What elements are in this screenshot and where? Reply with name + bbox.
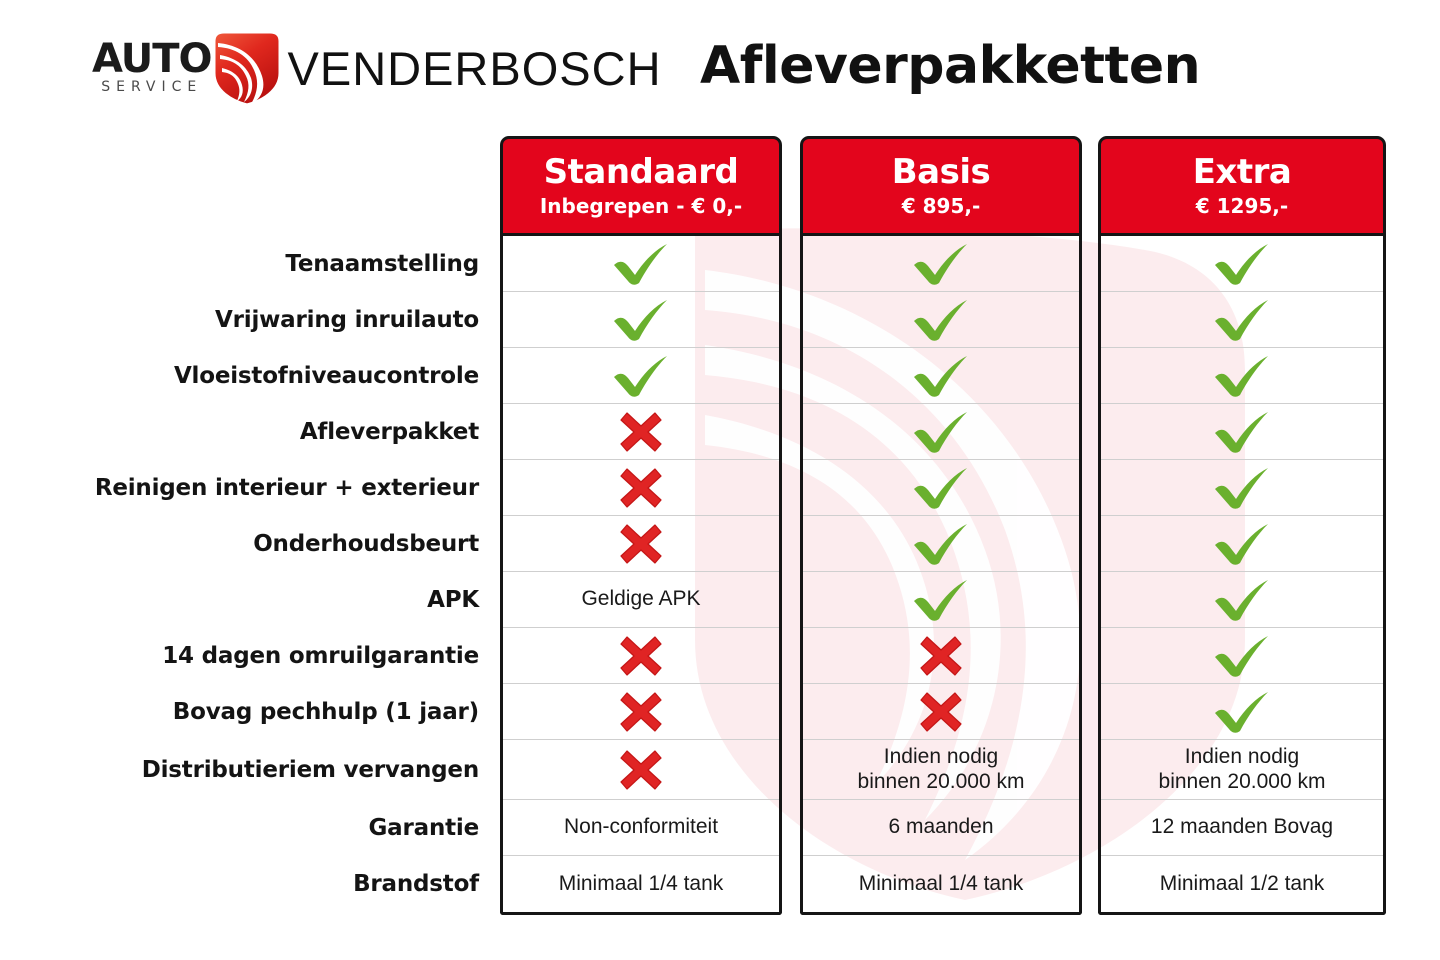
- cell-excluded: [503, 740, 779, 800]
- green-check-icon: [610, 354, 672, 398]
- feature-label: 14 dagen omruilgarantie: [60, 628, 485, 684]
- page-header: AUTO SERVICE VENDERBOSCH Afleverpakkette…: [0, 0, 1440, 130]
- cell-excluded: [503, 460, 779, 516]
- green-check-icon: [910, 298, 972, 342]
- package-column-basis[interactable]: Basis€ 895,-: [800, 136, 1082, 915]
- package-column-standaard[interactable]: StandaardInbegrepen - € 0,- Geldige APK: [500, 136, 782, 915]
- feature-label: Reinigen interieur + exterieur: [60, 460, 485, 516]
- cell-text: 12 maanden Bovag: [1101, 800, 1383, 856]
- logo-auto-service-text: AUTO SERVICE: [92, 40, 212, 95]
- green-check-icon: [1211, 634, 1273, 678]
- cell-value: Non-conformiteit: [558, 815, 724, 839]
- package-price: Inbegrepen - € 0,-: [540, 195, 742, 217]
- cell-text: 6 maanden: [803, 800, 1079, 856]
- green-check-icon: [910, 410, 972, 454]
- red-cross-icon: [619, 635, 663, 677]
- page-title: Afleverpakketten: [700, 36, 1200, 96]
- package-cells: Indien nodigbinnen 20.000 km12 maanden B…: [1098, 236, 1386, 915]
- cell-text: Minimaal 1/4 tank: [803, 856, 1079, 912]
- package-name: Basis: [892, 155, 991, 191]
- green-check-icon: [1211, 242, 1273, 286]
- green-check-icon: [910, 522, 972, 566]
- cell-included: [803, 292, 1079, 348]
- green-check-icon: [910, 466, 972, 510]
- cell-included: [1101, 460, 1383, 516]
- cell-excluded: [503, 628, 779, 684]
- cell-value: 12 maanden Bovag: [1145, 815, 1339, 839]
- package-cells: Indien nodigbinnen 20.000 km6 maandenMin…: [800, 236, 1082, 915]
- cell-excluded: [503, 516, 779, 572]
- cell-excluded: [503, 404, 779, 460]
- cell-included: [503, 348, 779, 404]
- logo-auto-word: AUTO: [92, 40, 212, 78]
- cell-included: [803, 516, 1079, 572]
- feature-label: Afleverpakket: [60, 404, 485, 460]
- cell-included: [1101, 348, 1383, 404]
- red-cross-icon: [919, 635, 963, 677]
- cell-value: Geldige APK: [575, 587, 706, 611]
- red-cross-icon: [619, 691, 663, 733]
- cell-included: [1101, 628, 1383, 684]
- green-check-icon: [910, 354, 972, 398]
- cell-included: [1101, 236, 1383, 292]
- cell-included: [803, 572, 1079, 628]
- feature-label-column: TenaamstellingVrijwaring inruilautoVloei…: [60, 236, 485, 912]
- feature-label: Vloeistofniveaucontrole: [60, 348, 485, 404]
- cell-included: [503, 236, 779, 292]
- logo-brand-name: VENDERBOSCH: [288, 45, 662, 92]
- green-check-icon: [1211, 690, 1273, 734]
- red-cross-icon: [619, 749, 663, 791]
- cell-text: Indien nodigbinnen 20.000 km: [1101, 740, 1383, 800]
- package-name: Standaard: [544, 155, 739, 191]
- feature-label: Distributieriem vervangen: [60, 740, 485, 800]
- cell-excluded: [803, 628, 1079, 684]
- package-column-extra[interactable]: Extra€ 1295,-: [1098, 136, 1386, 915]
- green-check-icon: [610, 242, 672, 286]
- package-cells: Geldige APK Non-conformiteitMinimaal 1/4…: [500, 236, 782, 915]
- feature-label: APK: [60, 572, 485, 628]
- feature-label: Bovag pechhulp (1 jaar): [60, 684, 485, 740]
- cell-excluded: [503, 684, 779, 740]
- package-name: Extra: [1193, 155, 1292, 191]
- cell-included: [803, 348, 1079, 404]
- red-cross-icon: [619, 523, 663, 565]
- cell-included: [803, 460, 1079, 516]
- cell-text: Non-conformiteit: [503, 800, 779, 856]
- green-check-icon: [1211, 578, 1273, 622]
- shield-swoosh-icon: [210, 29, 284, 107]
- red-cross-icon: [919, 691, 963, 733]
- green-check-icon: [1211, 466, 1273, 510]
- feature-label: Vrijwaring inruilauto: [60, 292, 485, 348]
- cell-included: [1101, 684, 1383, 740]
- green-check-icon: [1211, 410, 1273, 454]
- brand-logo: AUTO SERVICE VENDERBOSCH: [92, 30, 662, 106]
- package-price: € 895,-: [902, 195, 981, 217]
- green-check-icon: [910, 242, 972, 286]
- feature-label: Tenaamstelling: [60, 236, 485, 292]
- green-check-icon: [910, 578, 972, 622]
- cell-included: [1101, 516, 1383, 572]
- cell-text: Indien nodigbinnen 20.000 km: [803, 740, 1079, 800]
- logo-service-word: SERVICE: [101, 80, 202, 95]
- cell-included: [503, 292, 779, 348]
- green-check-icon: [1211, 298, 1273, 342]
- green-check-icon: [610, 298, 672, 342]
- cell-value: Indien nodigbinnen 20.000 km: [1153, 745, 1332, 793]
- cell-value: Minimaal 1/4 tank: [553, 872, 730, 896]
- cell-text: Geldige APK: [503, 572, 779, 628]
- package-header: Extra€ 1295,-: [1098, 136, 1386, 236]
- package-header: StandaardInbegrepen - € 0,-: [500, 136, 782, 236]
- green-check-icon: [1211, 522, 1273, 566]
- red-cross-icon: [619, 467, 663, 509]
- package-comparison-table: TenaamstellingVrijwaring inruilautoVloei…: [0, 0, 1440, 960]
- feature-label: Onderhoudsbeurt: [60, 516, 485, 572]
- cell-included: [803, 236, 1079, 292]
- cell-text: Minimaal 1/2 tank: [1101, 856, 1383, 912]
- cell-included: [1101, 404, 1383, 460]
- cell-value: Minimaal 1/2 tank: [1154, 872, 1331, 896]
- cell-included: [1101, 572, 1383, 628]
- package-price: € 1295,-: [1196, 195, 1288, 217]
- cell-value: Indien nodigbinnen 20.000 km: [852, 745, 1031, 793]
- cell-included: [803, 404, 1079, 460]
- cell-included: [1101, 292, 1383, 348]
- red-cross-icon: [619, 411, 663, 453]
- cell-excluded: [803, 684, 1079, 740]
- cell-value: 6 maanden: [882, 815, 999, 839]
- feature-label: Brandstof: [60, 856, 485, 912]
- package-header: Basis€ 895,-: [800, 136, 1082, 236]
- green-check-icon: [1211, 354, 1273, 398]
- feature-label: Garantie: [60, 800, 485, 856]
- cell-text: Minimaal 1/4 tank: [503, 856, 779, 912]
- cell-value: Minimaal 1/4 tank: [853, 872, 1030, 896]
